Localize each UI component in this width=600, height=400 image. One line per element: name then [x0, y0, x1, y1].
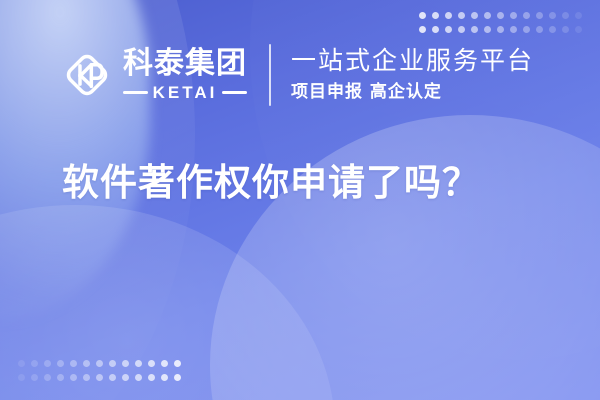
decorative-dot [549, 26, 556, 33]
header-divider [269, 44, 271, 106]
dot-grid-bottom-left [18, 360, 181, 382]
decorative-dot [70, 374, 77, 381]
decorative-dot [458, 12, 465, 19]
decorative-dot [484, 26, 491, 33]
brand-name-cn: 科泰集团 [123, 49, 247, 80]
decorative-dot [57, 374, 64, 381]
decorative-dot [18, 360, 25, 367]
decorative-dot [523, 26, 530, 33]
decorative-dot [31, 374, 38, 381]
decorative-dot [432, 26, 439, 33]
decorative-dot [161, 360, 168, 367]
decorative-dot [18, 374, 25, 381]
headline-text: 软件著作权你申请了吗？ [62, 152, 480, 206]
decorative-dot [575, 26, 582, 33]
decorative-dot [419, 12, 426, 19]
decorative-dot [562, 26, 569, 33]
ketai-diamond-kd-monogram-icon [60, 48, 114, 102]
decorative-dot [575, 12, 582, 19]
brand-name-en: KETAI [153, 83, 218, 103]
decorative-dot [161, 374, 168, 381]
decorative-dot [497, 12, 504, 19]
wordmark-rule-right [222, 91, 247, 94]
decorative-dot [445, 12, 452, 19]
decorative-dot [44, 374, 51, 381]
decorative-dot [484, 12, 491, 19]
wordmark-rule-left [123, 91, 148, 94]
decorative-dot [135, 374, 142, 381]
decorative-dot [458, 26, 465, 33]
decorative-dot [445, 26, 452, 33]
decorative-dot [536, 26, 543, 33]
decorative-dot [510, 26, 517, 33]
decorative-dot [31, 360, 38, 367]
brand-name-en-row: KETAI [123, 83, 247, 103]
slogan-block: 一站式企业服务平台 项目申报 高企认定 [291, 46, 534, 104]
decorative-dot [174, 374, 181, 381]
dot-grid-top-right [419, 12, 582, 34]
decorative-dot [148, 374, 155, 381]
slogan-sub: 项目申报 高企认定 [291, 81, 534, 104]
decorative-dot [523, 12, 530, 19]
decorative-dot [96, 374, 103, 381]
decorative-dot [109, 360, 116, 367]
decorative-dot [122, 374, 129, 381]
decorative-dot [57, 360, 64, 367]
promo-banner: 科泰集团 KETAI 一站式企业服务平台 项目申报 高企认定 软件著作权你申请了… [0, 0, 600, 400]
brand-logo: 科泰集团 KETAI [60, 47, 247, 103]
brand-wordmark: 科泰集团 KETAI [123, 49, 247, 103]
decorative-dot [471, 26, 478, 33]
banner-header: 科泰集团 KETAI 一站式企业服务平台 项目申报 高企认定 [0, 38, 600, 112]
slogan-main: 一站式企业服务平台 [291, 46, 534, 76]
decorative-dot [148, 360, 155, 367]
decorative-dot [44, 360, 51, 367]
decorative-dot [432, 12, 439, 19]
decorative-dot [122, 360, 129, 367]
decorative-dot [109, 374, 116, 381]
decorative-dot [562, 12, 569, 19]
decorative-dot [549, 12, 556, 19]
decorative-dot [471, 12, 478, 19]
decorative-dot [70, 360, 77, 367]
decorative-dot [419, 26, 426, 33]
decorative-dot [135, 360, 142, 367]
decorative-dot [83, 360, 90, 367]
decorative-dot [96, 360, 103, 367]
decorative-dot [536, 12, 543, 19]
decorative-dot [497, 26, 504, 33]
decorative-dot [510, 12, 517, 19]
decorative-dot [174, 360, 181, 367]
decorative-dot [83, 374, 90, 381]
